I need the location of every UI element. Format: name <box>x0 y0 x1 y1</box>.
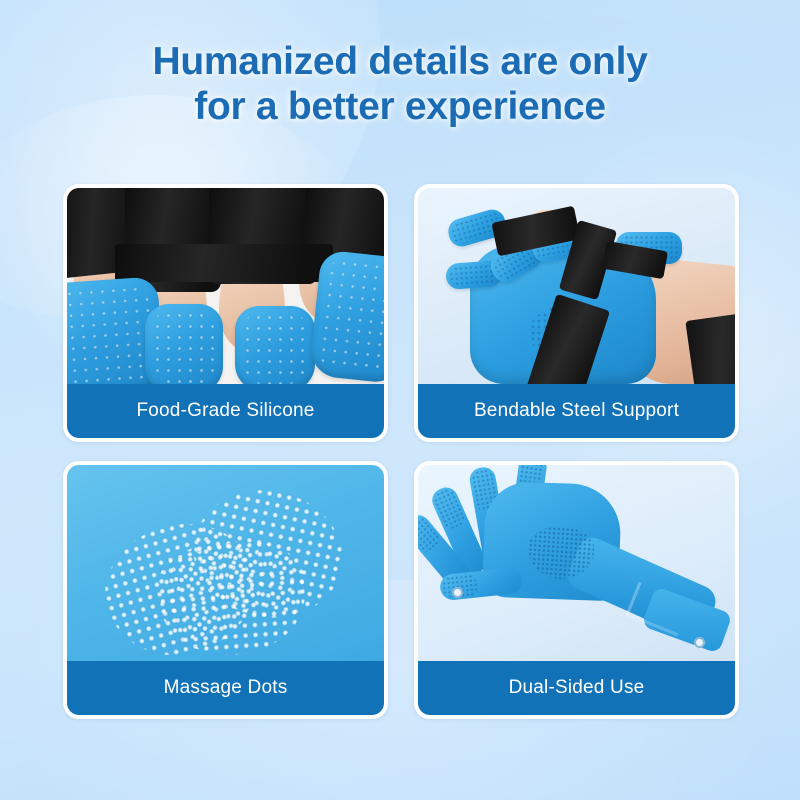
page-headline: Humanized details are only for a better … <box>0 40 800 130</box>
card-label-bar: Food-Grade Silicone <box>67 384 384 438</box>
photo-fingers-in-silicone-separators <box>67 188 384 392</box>
feature-card-bendable-steel-support[interactable]: Bendable Steel Support <box>414 184 739 442</box>
feature-card-massage-dots[interactable]: Massage Dots <box>63 461 388 719</box>
feature-card-grid: Food-Grade Silicone <box>63 184 739 740</box>
card-label-text: Dual-Sided Use <box>509 677 645 699</box>
massage-dots-texture <box>242 312 308 384</box>
splint-strap-wrist <box>685 311 735 392</box>
scene-fingers <box>67 188 384 392</box>
heart-dot-cluster <box>101 485 351 655</box>
feature-card-food-grade-silicone[interactable]: Food-Grade Silicone <box>63 184 388 442</box>
card-label-text: Massage Dots <box>164 677 288 699</box>
scene-splint <box>418 188 735 392</box>
paddle-hang-hole-1 <box>452 587 463 598</box>
card-label-text: Bendable Steel Support <box>474 400 679 422</box>
massage-dots-texture <box>316 256 384 376</box>
paddle-finger-dots <box>431 486 468 532</box>
headline-line-1: Humanized details are only <box>152 40 647 83</box>
infographic-page: Humanized details are only for a better … <box>0 0 800 800</box>
silicone-separator-4 <box>309 250 384 385</box>
velcro-strap-band <box>115 244 333 282</box>
card-label-bar: Bendable Steel Support <box>418 384 735 438</box>
silicone-separator-3 <box>235 306 315 392</box>
paddle-hang-hole-2 <box>694 637 705 648</box>
feature-card-dual-sided-use[interactable]: Dual-Sided Use <box>414 461 739 719</box>
card-label-bar: Massage Dots <box>67 661 384 715</box>
headline-line-2: for a better experience <box>0 85 800 130</box>
silicone-separator-2 <box>145 304 223 392</box>
scene-massage-dots <box>67 465 384 669</box>
card-label-text: Food-Grade Silicone <box>136 400 314 422</box>
photo-hand-wearing-splint <box>418 188 735 392</box>
massage-dots-texture <box>67 283 157 388</box>
massage-dots-texture <box>152 310 216 386</box>
photo-heart-dot-cluster <box>67 465 384 669</box>
scene-paddle <box>418 465 735 669</box>
card-label-bar: Dual-Sided Use <box>418 661 735 715</box>
photo-silicone-hand-paddle <box>418 465 735 669</box>
